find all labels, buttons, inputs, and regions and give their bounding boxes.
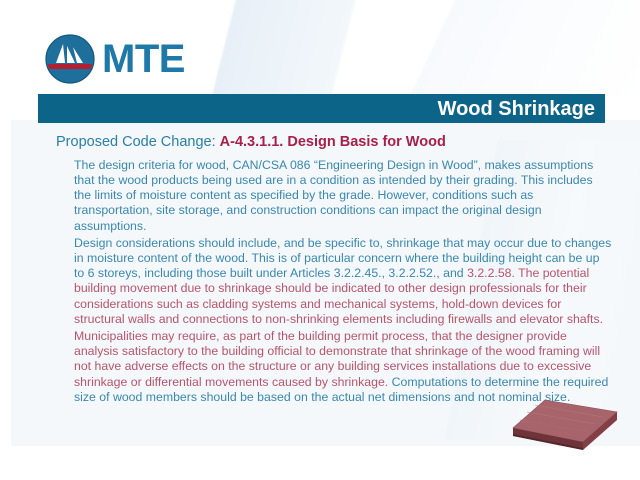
paragraph-design-considerations: Design considerations should include, an…: [56, 236, 612, 327]
mte-sailboat-logo-icon: [44, 33, 96, 85]
slide: MTE Wood Shrinkage Proposed Code Change:…: [0, 0, 640, 480]
code-change-reference: A-4.3.1.1. Design Basis for Wood: [220, 134, 446, 150]
brand-name: MTE: [102, 39, 185, 79]
background-diagonal-top-right: [300, 0, 640, 96]
code-change-heading: Proposed Code Change: A-4.3.1.1. Design …: [56, 133, 612, 152]
slide-title-bar: Wood Shrinkage: [38, 94, 605, 123]
code-change-label: Proposed Code Change:: [56, 134, 216, 150]
paragraph-municipalities: Municipalities may require, as part of t…: [56, 329, 612, 405]
brand-logo: MTE: [44, 33, 185, 85]
paragraph-design-criteria: The design criteria for wood, CAN/CSA 08…: [56, 158, 612, 234]
background-left-margin: [0, 0, 11, 480]
page-title: Wood Shrinkage: [438, 99, 605, 119]
wood-plank-image: [505, 398, 623, 456]
slide-body: Proposed Code Change: A-4.3.1.1. Design …: [56, 133, 612, 407]
